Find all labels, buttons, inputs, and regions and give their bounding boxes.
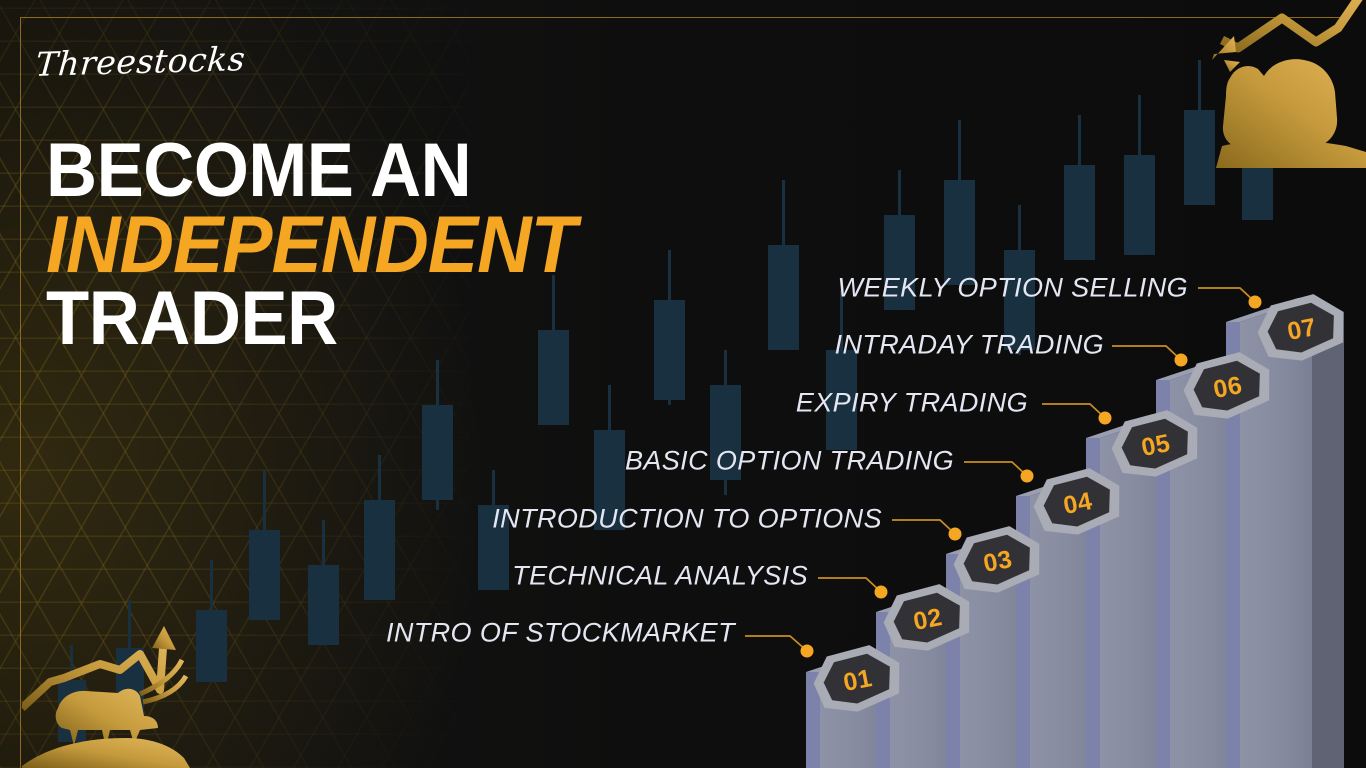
step-label-04[interactable]: BASIC OPTION TRADING [625,446,954,477]
step-label-03[interactable]: INTRODUCTION TO OPTIONS [492,504,882,535]
step-label-01[interactable]: INTRO OF STOCKMARKET [386,618,735,649]
step-label-07[interactable]: WEEKLY OPTION SELLING [837,273,1188,304]
poster-canvas: Threestocks BECOME AN INDEPENDENT TRADER [0,0,1366,768]
step-label-list: INTRO OF STOCKMARKET TECHNICAL ANALYSIS … [0,0,1366,768]
step-label-02[interactable]: TECHNICAL ANALYSIS [512,561,808,592]
step-label-06[interactable]: INTRADAY TRADING [835,330,1104,361]
step-label-05[interactable]: EXPIRY TRADING [796,388,1028,419]
